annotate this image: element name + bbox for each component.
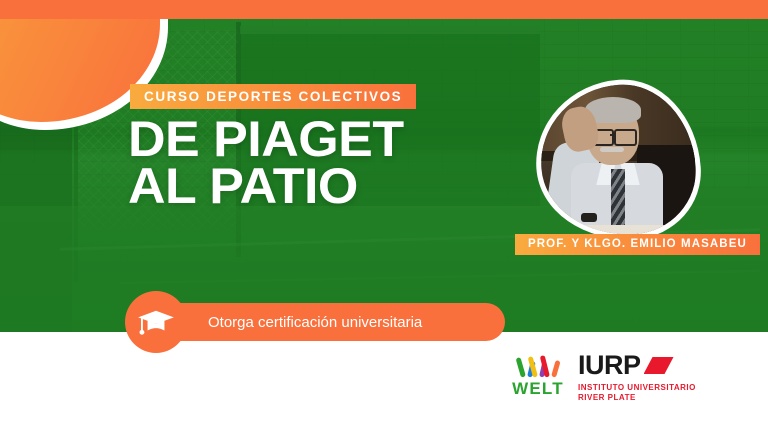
certification-label: Otorga certificación universitaria bbox=[160, 315, 422, 330]
welt-mark-icon bbox=[503, 351, 573, 377]
top-orange-bar bbox=[0, 0, 768, 19]
speaker-tie bbox=[611, 169, 625, 231]
promo-banner: CURSO DEPORTES COLECTIVOS DE PIAGET AL P… bbox=[0, 0, 768, 432]
title-line-2: AL PATIO bbox=[128, 163, 404, 210]
iurp-subtitle-line-2: RIVER PLATE bbox=[578, 393, 696, 403]
speaker-glasses-bridge bbox=[610, 134, 615, 136]
speaker-photo-image bbox=[536, 80, 700, 240]
iurp-logo: IURP INSTITUTO UNIVERSITARIO RIVER PLATE bbox=[578, 352, 696, 403]
speaker-glasses-right bbox=[614, 129, 637, 146]
iurp-subtitle-line-1: INSTITUTO UNIVERSITARIO bbox=[578, 383, 696, 393]
speaker-moustache bbox=[600, 147, 624, 152]
course-badge: CURSO DEPORTES COLECTIVOS bbox=[130, 84, 416, 109]
course-badge-label: CURSO DEPORTES COLECTIVOS bbox=[144, 90, 402, 104]
speaker-photo-content bbox=[541, 85, 695, 235]
speaker-name-banner: PROF. Y KLGO. EMILIO MASABEU bbox=[515, 234, 760, 255]
speaker-photo bbox=[536, 80, 700, 240]
speaker-watch bbox=[581, 213, 597, 222]
page-title: DE PIAGET AL PATIO bbox=[128, 116, 404, 210]
certification-pill: Otorga certificación universitaria bbox=[160, 303, 505, 341]
iurp-wordmark: IURP bbox=[578, 352, 641, 379]
iurp-slash-icon bbox=[644, 357, 674, 374]
welt-logo: WELT bbox=[503, 351, 573, 399]
iurp-subtitle: INSTITUTO UNIVERSITARIO RIVER PLATE bbox=[578, 383, 696, 403]
graduation-cap-icon bbox=[137, 307, 175, 337]
welt-wordmark: WELT bbox=[503, 379, 573, 399]
certification-icon-circle bbox=[125, 291, 187, 353]
footer-logos: WELT IURP INSTITUTO UNIVERSITARIO RIVER … bbox=[0, 332, 768, 432]
speaker-name-label: PROF. Y KLGO. EMILIO MASABEU bbox=[528, 239, 747, 251]
iurp-logo-top: IURP bbox=[578, 352, 696, 379]
